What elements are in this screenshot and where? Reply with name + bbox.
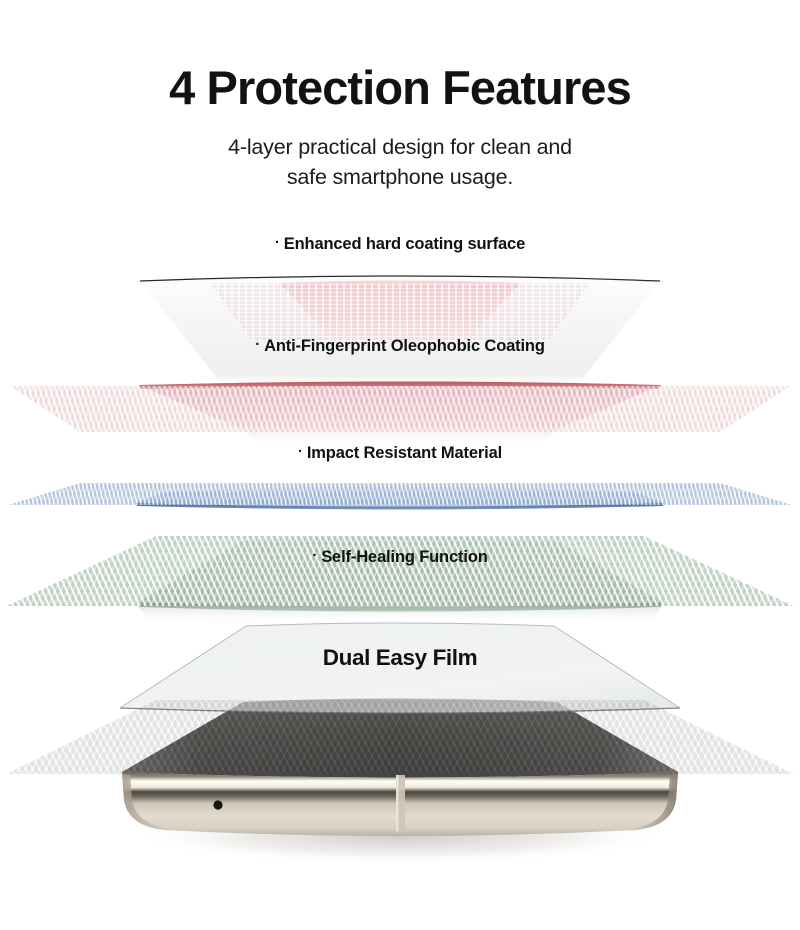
- bullet-icon: ·: [298, 443, 303, 460]
- layer-label-hard-coating-text: Enhanced hard coating surface: [284, 235, 525, 253]
- texture-device-screen: [0, 700, 800, 774]
- pink-crosshatch-texture: [0, 386, 800, 432]
- layer-label-oleophobic: ·Anti-Fingerprint Oleophobic Coating: [0, 336, 800, 356]
- layer-stack-diagram: ·Enhanced hard coating surface ·Anti-Fin…: [0, 0, 800, 930]
- layer-label-self-healing-text: Self-Healing Function: [321, 548, 487, 566]
- product-feature-graphic: 4 Protection Features 4-layer practical …: [0, 0, 800, 930]
- texture-oleophobic: [0, 386, 800, 432]
- texture-hard-coating: [0, 283, 800, 341]
- texture-impact: [0, 483, 800, 505]
- bullet-icon: ·: [312, 547, 317, 564]
- layer-label-hard-coating: ·Enhanced hard coating surface: [0, 234, 800, 254]
- screen-mesh-texture: [0, 700, 800, 774]
- layer-shapes-svg: [0, 0, 800, 930]
- blue-crosshatch-texture: [0, 483, 800, 505]
- layer-label-oleophobic-text: Anti-Fingerprint Oleophobic Coating: [264, 337, 545, 355]
- bullet-icon: ·: [255, 336, 260, 353]
- layer-label-dual-easy-film: Dual Easy Film: [0, 645, 800, 671]
- pink-weave-texture: [0, 283, 800, 341]
- layer-label-self-healing: ·Self-Healing Function: [0, 547, 800, 567]
- layer-label-dual-easy-film-text: Dual Easy Film: [323, 645, 477, 670]
- layer-label-impact: ·Impact Resistant Material: [0, 443, 800, 463]
- bullet-icon: ·: [275, 234, 280, 251]
- layer-label-impact-text: Impact Resistant Material: [307, 444, 502, 462]
